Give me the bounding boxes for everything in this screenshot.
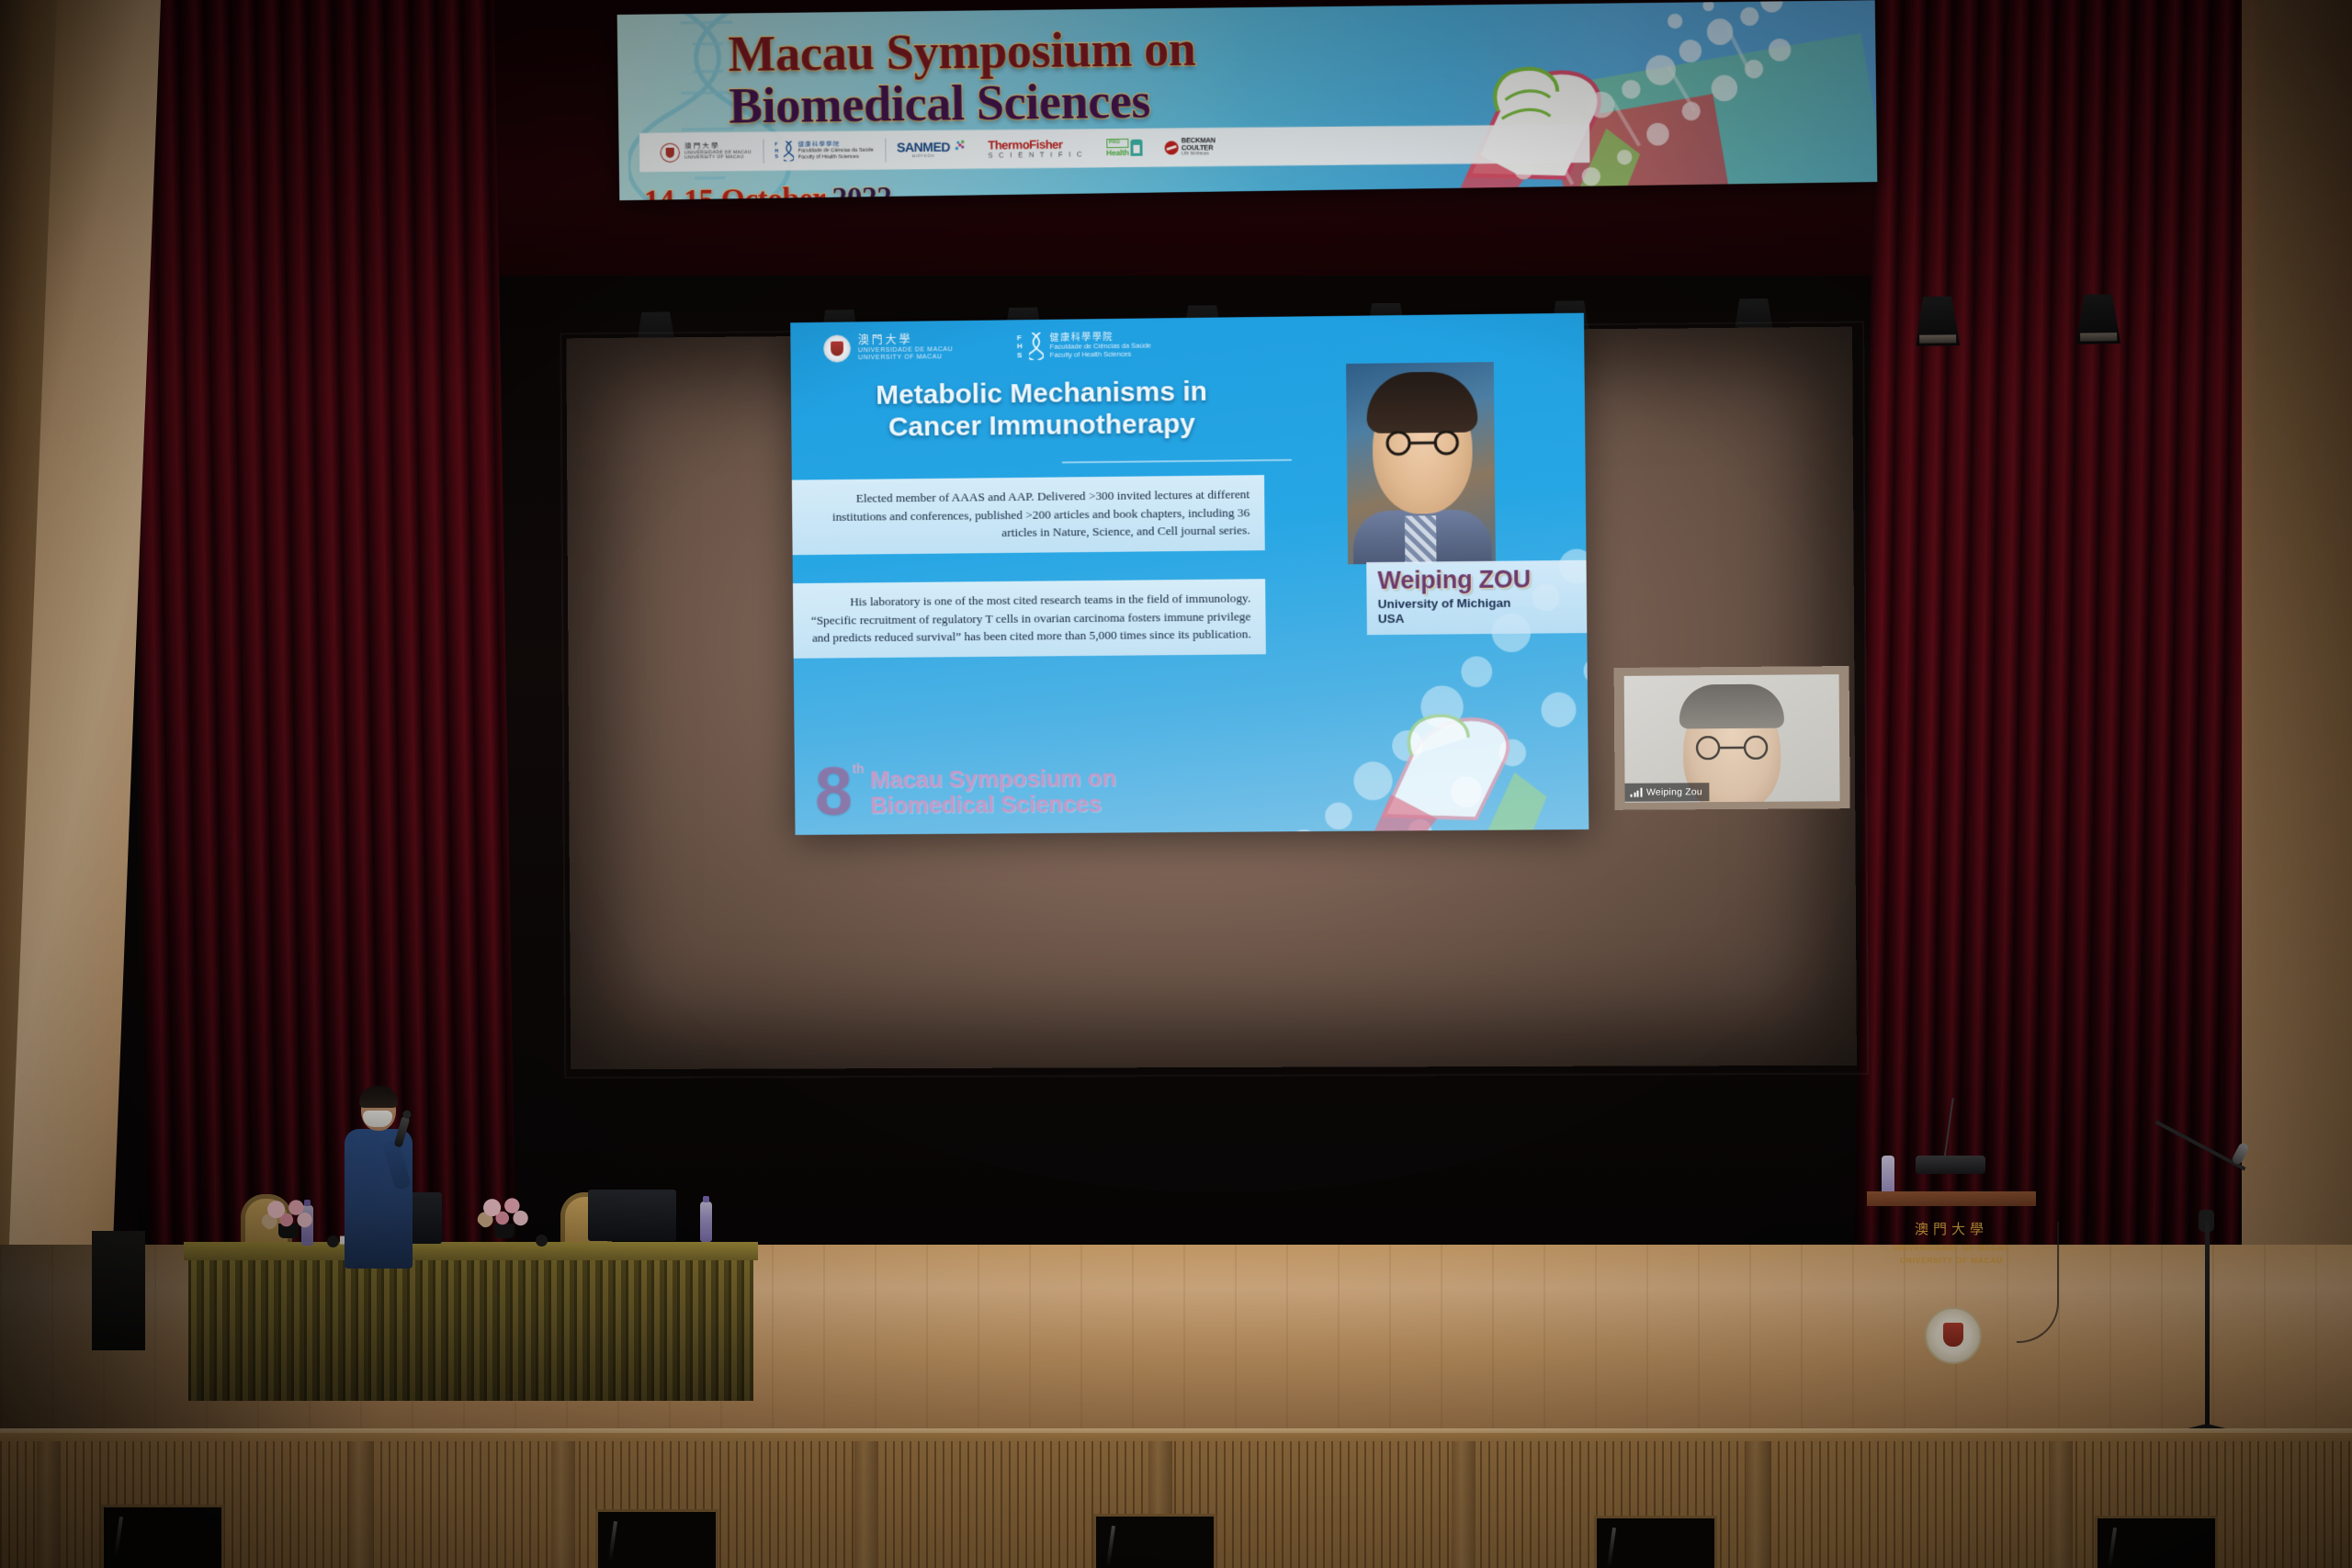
podium-water-bottle (1882, 1156, 1894, 1196)
prohealth-badge: PRO (1106, 139, 1129, 148)
speaker-name: Weiping ZOU (1377, 566, 1577, 594)
stage-vent (1093, 1514, 1216, 1568)
um-en-label: UNIVERSITY OF MACAU (684, 155, 752, 161)
apron-post (37, 1441, 61, 1568)
apron-post (2049, 1441, 2073, 1568)
slide-footer-ordinal: 8 (815, 764, 853, 818)
slide-bio-paragraph-1: Elected member of AAAS and AAP. Delivere… (792, 475, 1265, 555)
event-banner: Macau Symposium on Biomedical Sciences 澳… (617, 0, 1878, 200)
glasses-icon (1689, 736, 1775, 761)
fhs-helix-icon (783, 141, 793, 161)
flower-arrangement (475, 1194, 532, 1233)
participant-hair (1679, 684, 1784, 729)
banner-title-line-2: Biomedical Sciences (729, 71, 1450, 132)
speaker-country: USA (1378, 610, 1577, 626)
slide-footer-line-1: Macau Symposium on (870, 764, 1116, 792)
podium-en-label: UNIVERSITY OF MACAU (1874, 1256, 2029, 1265)
banner-title: Macau Symposium on Biomedical Sciences (728, 20, 1449, 133)
apron-post (854, 1441, 878, 1568)
slide-fhs-en: Faculty of Health Sciences (1050, 350, 1151, 359)
stage-light (2076, 294, 2121, 344)
desk-microphone (536, 1235, 548, 1247)
slide-title: Metabolic Mechanisms in Cancer Immunothe… (791, 376, 1294, 446)
slide-bio-paragraph-2: His laboratory is one of the most cited … (793, 579, 1266, 659)
auditorium-stage-photo: Macau Symposium on Biomedical Sciences 澳… (0, 0, 2352, 1568)
slide-footer-line-2: Biomedical Sciences (870, 791, 1116, 818)
on-stage-presenter (343, 1089, 414, 1268)
sanmed-molecule-icon (953, 139, 966, 152)
slide-clasped-hands-icon (1351, 651, 1565, 835)
side-wall-left (0, 0, 161, 1359)
glasses-icon (1378, 431, 1467, 457)
podium-cn-label: 澳門大學 (1874, 1219, 2029, 1238)
scientific-wordmark: S C I E N T I F I C (988, 151, 1084, 159)
participant-nametag: Weiping Zou (1624, 783, 1709, 802)
head-table-top (184, 1242, 758, 1260)
lectern-podium: 澳門大學 UNIVERSIDADE DE MACAU UNIVERSITY OF… (1874, 1199, 2029, 1396)
apron-post (349, 1441, 373, 1568)
side-wall-right (2242, 0, 2352, 1304)
slide-footer: 8 th Macau Symposium on Biomedical Scien… (815, 760, 1116, 818)
signal-bars-icon (1630, 788, 1642, 797)
sanmed-sub: BIOTECH (912, 154, 935, 159)
sponsor-faculty-of-health-sciences: F H S 健康科學學院 Faculdade de Ciências da Sa… (763, 130, 885, 171)
slide-um-cn: 澳門大學 (858, 334, 954, 348)
fhs-letter-s: S (775, 154, 778, 161)
sponsor-pro-health: PRO Health (1095, 129, 1154, 168)
stage-vent (2095, 1516, 2218, 1568)
sponsor-university-of-macau: 澳門大學 UNIVERSIDADE DE MACAU UNIVERSITY OF… (649, 132, 763, 173)
stage-speaker-cabinet (92, 1231, 145, 1350)
um-crest-icon (823, 334, 851, 362)
slide-fhs-letter-s: S (1017, 351, 1023, 359)
sponsor-thermo-fisher-scientific: ThermoFisher S C I E N T I F I C (977, 129, 1095, 168)
podium-crest-icon (1925, 1307, 1982, 1364)
slide-um-logo: 澳門大學 UNIVERSIDADE DE MACAU UNIVERSITY OF… (823, 333, 953, 363)
prohealth-wordmark: Health (1106, 148, 1129, 157)
fhs-en-label: Faculty of Health Sciences (798, 153, 874, 160)
speaker-headshot (1346, 362, 1496, 564)
beckman-coulter-mark-icon (1165, 141, 1179, 154)
um-crest-icon (660, 142, 680, 162)
slide-fhs-letter-h: H (1017, 342, 1023, 350)
dna-bubble-helix-icon (1495, 0, 1796, 200)
slide-title-underline (1062, 459, 1292, 464)
headshot-shirt (1405, 515, 1437, 564)
flower-arrangement (259, 1196, 316, 1235)
water-bottle (700, 1201, 712, 1242)
podium-pt-label: UNIVERSIDADE DE MACAU (1874, 1243, 2029, 1252)
laptop[interactable] (588, 1190, 676, 1241)
slide-fhs-letter-f: F (1017, 333, 1023, 342)
side-wall-left-edge (0, 0, 57, 1359)
video-call-participant-tile[interactable]: Weiping Zou (1614, 666, 1850, 810)
sponsor-sanmed: SANMED BIOTECH (886, 130, 977, 169)
sponsor-beckman-coulter: BECKMAN COULTER Life Sciences (1154, 128, 1227, 167)
apron-post (551, 1441, 575, 1568)
stage-curtain-left (127, 0, 516, 1286)
presenter-suit (345, 1129, 413, 1269)
sanmed-wordmark: SANMED (897, 141, 950, 154)
stage-light (1916, 296, 1961, 346)
face-mask-icon (363, 1111, 392, 1127)
podium-console (1916, 1156, 1985, 1174)
speaker-name-card: Weiping ZOU University of Michigan USA (1366, 560, 1587, 635)
presenter-hair (359, 1086, 398, 1108)
stage-vent (595, 1509, 718, 1568)
stage-vent (1594, 1516, 1717, 1568)
microphone-stand-pole (2205, 1222, 2210, 1428)
headshot-hair (1366, 371, 1477, 434)
slide-title-line-2: Cancer Immunotherapy (791, 407, 1294, 445)
participant-name: Weiping Zou (1646, 786, 1702, 797)
desk-microphone (327, 1235, 339, 1247)
fhs-helix-icon (1029, 333, 1044, 360)
presentation-slide: 澳門大學 UNIVERSIDADE DE MACAU UNIVERSITY OF… (790, 313, 1589, 835)
prohealth-h-icon (1131, 140, 1143, 156)
life-sciences-label: Life Sciences (1182, 152, 1216, 157)
apron-post (1746, 1441, 1770, 1568)
apron-post (1452, 1441, 1476, 1568)
stage-curtain-right (1854, 0, 2262, 1268)
head-table-skirt (188, 1254, 753, 1401)
slide-header-logos: 澳門大學 UNIVERSIDADE DE MACAU UNIVERSITY OF… (823, 331, 1151, 362)
slide-um-en: UNIVERSITY OF MACAU (858, 354, 953, 362)
speaker-affiliation: University of Michigan (1378, 595, 1577, 612)
stage-vent (101, 1505, 224, 1568)
slide-fhs-logo: F H S 健康科學學院 Faculdade de Ciências da Sa… (1017, 331, 1151, 360)
slide-footer-superscript: th (852, 761, 864, 776)
